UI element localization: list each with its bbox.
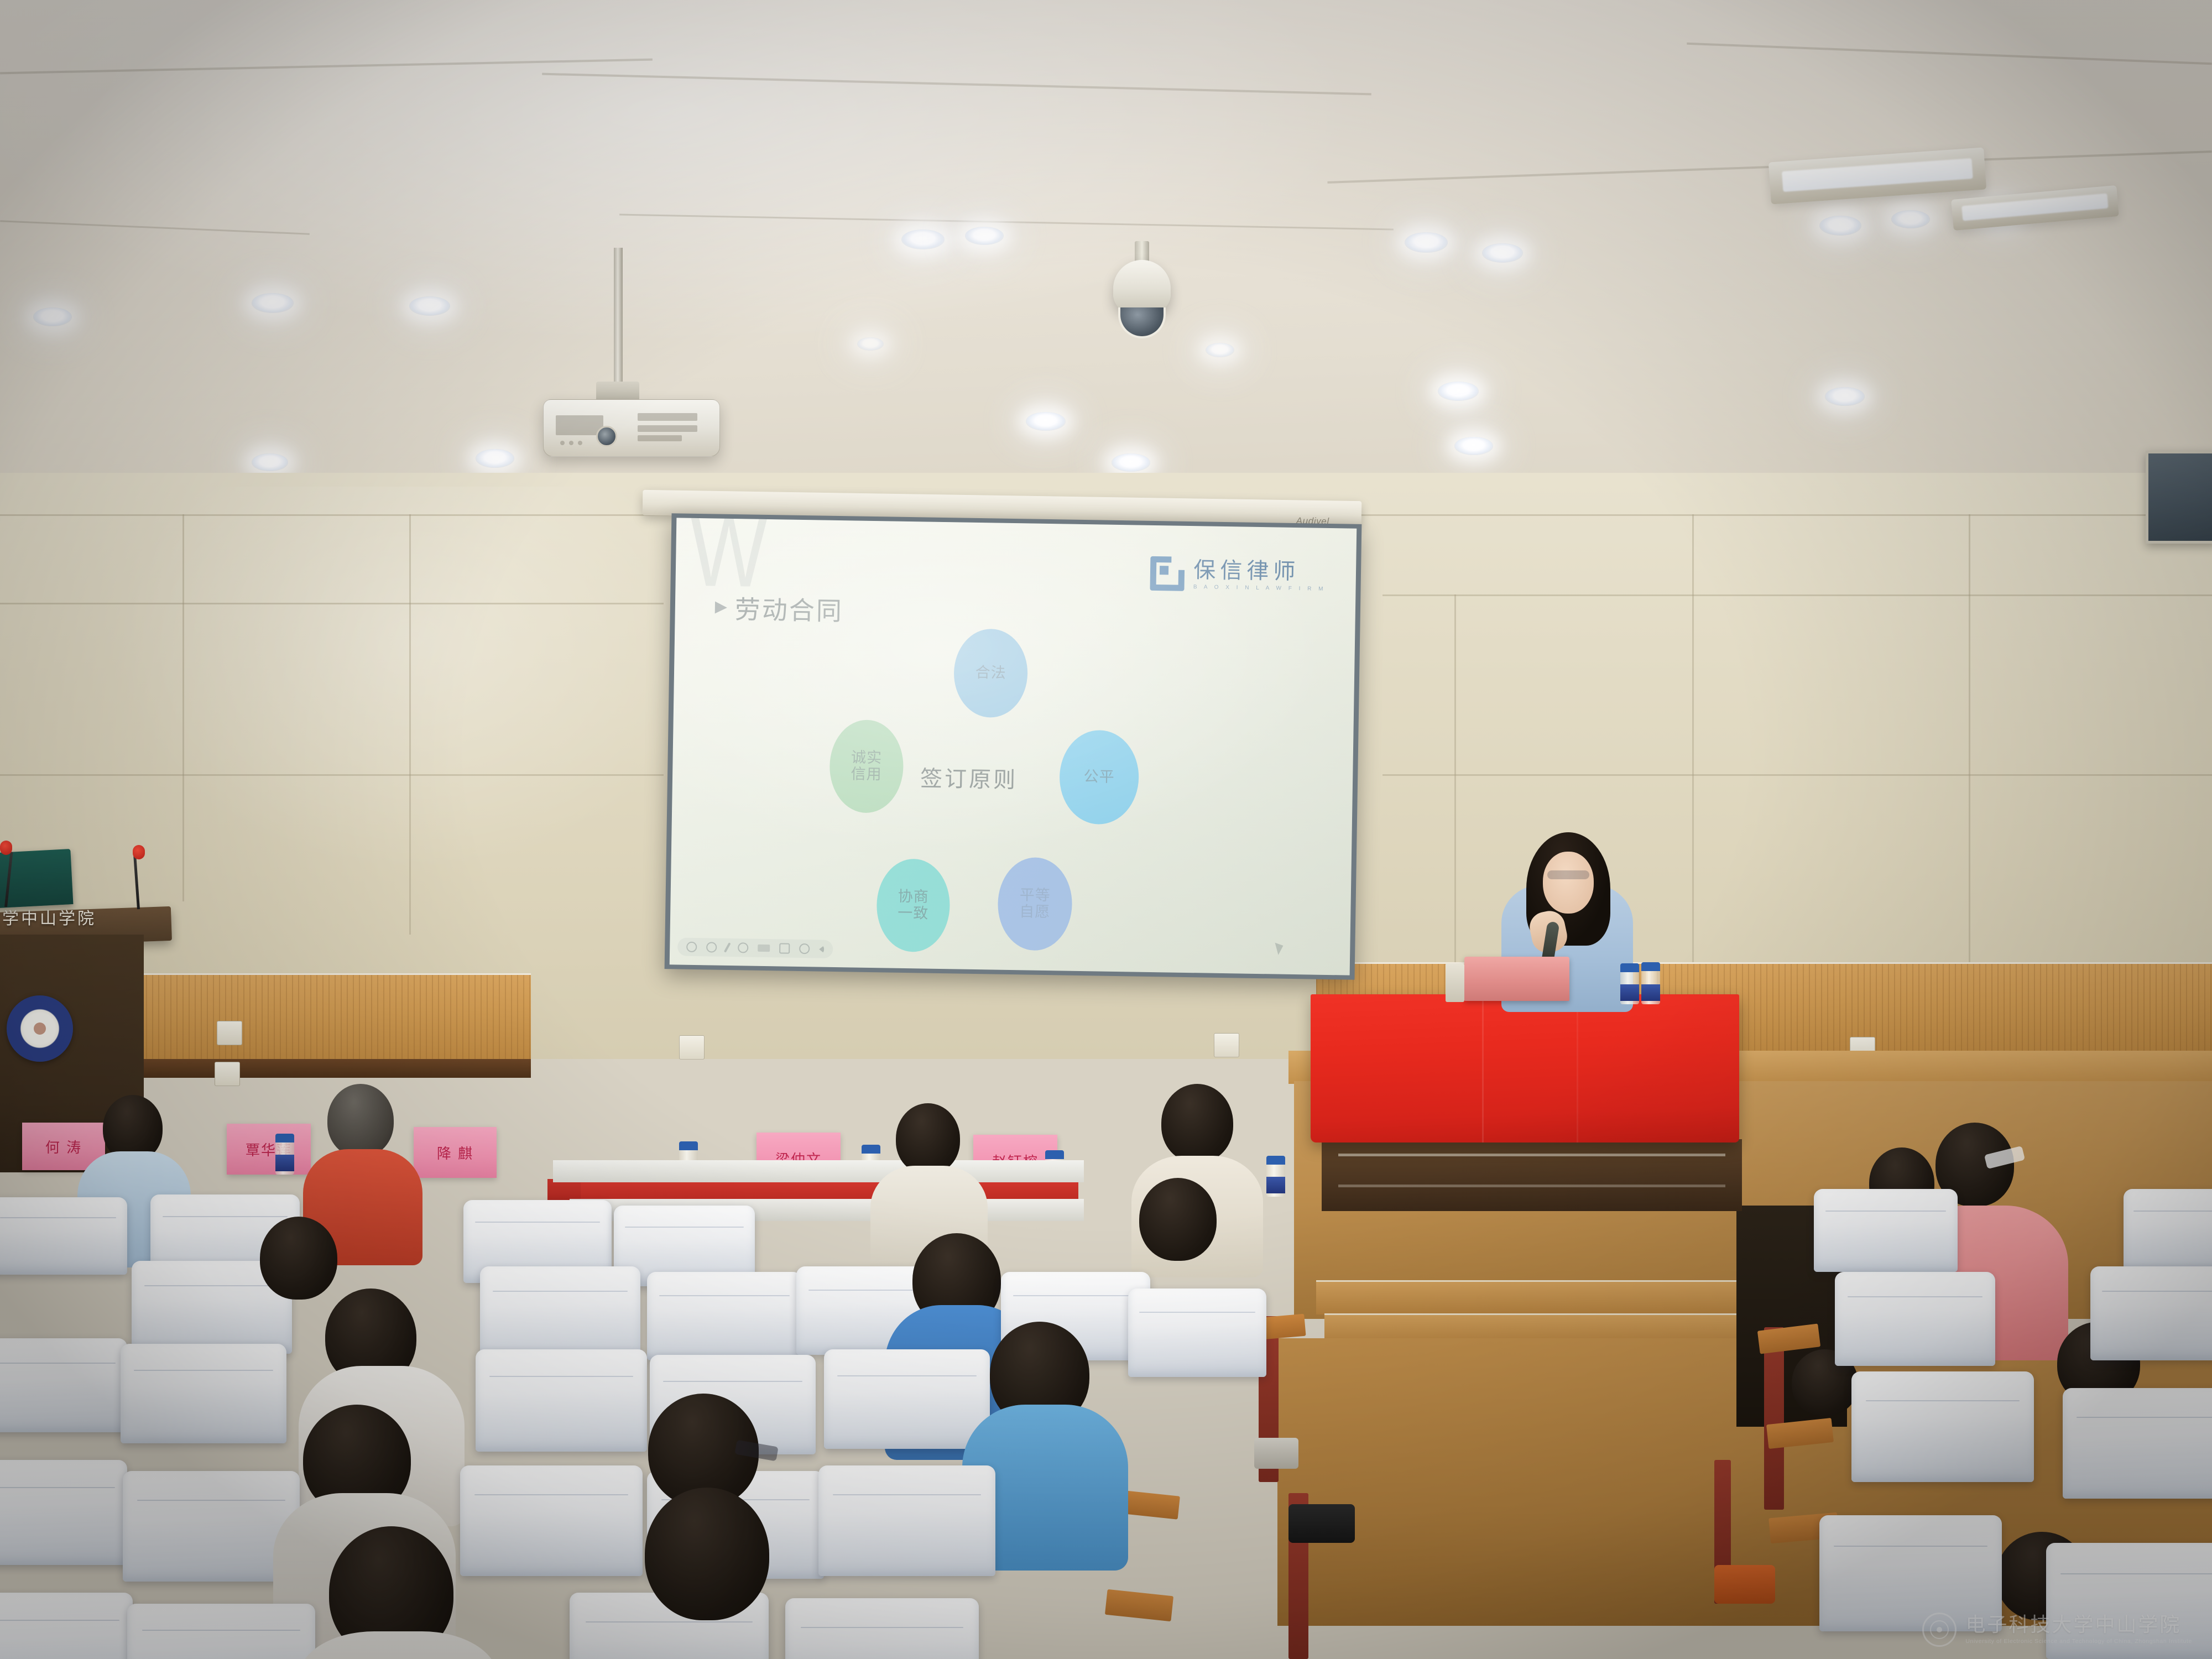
front-table-top (553, 1160, 1084, 1182)
slide-center-label: 签订原则 (920, 760, 1018, 794)
speaker-face (1543, 852, 1594, 914)
principle-label: 平等 自愿 (1019, 887, 1051, 921)
microphone-head-icon (0, 841, 12, 855)
wall-seam (0, 603, 664, 604)
audience-seat[interactable] (824, 1349, 990, 1449)
downlight (1482, 243, 1523, 263)
pen-icon[interactable] (724, 942, 731, 953)
institution-watermark: 电子科技大学中山学院 University of Electronic Scie… (1922, 1613, 2192, 1647)
downlight (1438, 382, 1479, 401)
downlight (1454, 437, 1493, 455)
lecture-hall-photo: Audivel W 劳动合同 保信律师 B A O X I N L A W F … (0, 0, 2212, 1659)
ptz-dome-camera (1113, 260, 1171, 313)
audience-seat[interactable] (1814, 1189, 1958, 1272)
pen-circle-icon[interactable] (686, 942, 697, 952)
name-placard: 降 麒 (414, 1127, 497, 1178)
audience-head (645, 1488, 769, 1620)
projection-screen-surface[interactable]: W 劳动合同 保信律师 B A O X I N L A W F I R M (670, 518, 1357, 975)
wall-seam (1692, 514, 1694, 990)
seat-frame (1764, 1327, 1784, 1510)
audience-seat[interactable] (127, 1604, 315, 1659)
downlight (1891, 210, 1930, 228)
principle-bubble-bottom-left: 协商 一致 (876, 858, 951, 952)
audience-seat[interactable] (1128, 1288, 1266, 1377)
projector-pole (614, 248, 623, 390)
audience-seat[interactable] (0, 1197, 127, 1275)
floor-item (1254, 1438, 1298, 1469)
audience-seat[interactable] (0, 1338, 127, 1432)
audience-seat[interactable] (1835, 1272, 1995, 1366)
audience-head (327, 1084, 394, 1157)
placard-name: 降 麒 (437, 1142, 473, 1163)
speaker-glasses (1547, 870, 1589, 879)
principle-bubble-top: 合法 (953, 628, 1028, 718)
principle-label: 协商 一致 (898, 889, 929, 922)
audience-seat[interactable] (0, 1460, 127, 1565)
water-bottle[interactable] (1641, 962, 1660, 1004)
principle-bubble-left: 诚实 信用 (829, 719, 904, 813)
audience-head (896, 1103, 960, 1174)
university-emblem-icon (7, 995, 73, 1062)
highlighter-circle-icon[interactable] (706, 942, 717, 952)
audience-seat[interactable] (0, 1593, 133, 1659)
water-bottle[interactable] (275, 1134, 294, 1175)
institution-name-cn: 电子科技大学中山学院 (1965, 1615, 2192, 1636)
wall-seam (1383, 774, 2212, 776)
presenter-table-body (1322, 1139, 1742, 1211)
wall-panel-display (2146, 451, 2212, 544)
institution-name-en: University of Electronic Science and Tec… (1965, 1638, 2192, 1645)
audience-seat[interactable] (121, 1344, 286, 1443)
law-firm-name-en: B A O X I N L A W F I R M (1193, 584, 1326, 592)
downlight (901, 229, 945, 249)
wall-seam (1969, 514, 1970, 990)
microphone-head-icon (133, 845, 145, 859)
principle-label: 诚实 信用 (851, 749, 882, 783)
institution-emblem-icon (1922, 1613, 1957, 1647)
projector (543, 399, 720, 457)
audience-seat[interactable] (480, 1266, 640, 1359)
wall-socket[interactable] (217, 1021, 242, 1045)
floor-bag (1714, 1565, 1775, 1604)
ceiling (0, 0, 2212, 498)
audience-seat[interactable] (785, 1598, 979, 1659)
wall-socket[interactable] (679, 1035, 705, 1060)
name-placard: 覃华莲 (227, 1124, 311, 1175)
grid-view-icon[interactable] (779, 943, 790, 953)
downlight (1819, 216, 1861, 236)
wall-seam (182, 514, 184, 901)
slide-thumbnail-icon[interactable] (758, 945, 770, 952)
principle-label: 公平 (1083, 769, 1114, 786)
wall-seam (0, 774, 664, 776)
lamp-glow (1961, 194, 2108, 221)
downlight (33, 307, 72, 326)
slide-bullet-title-row: 劳动合同 (714, 589, 843, 628)
presenter-table-cloth (1311, 994, 1739, 1142)
downlight (857, 337, 884, 351)
wall-socket[interactable] (1214, 1033, 1239, 1057)
options-circle-icon[interactable] (799, 943, 810, 954)
audience-head (1139, 1178, 1217, 1261)
downlight (476, 449, 514, 468)
wall-seam (1454, 594, 1456, 982)
lectern-sign: 大学中山学院 (0, 905, 96, 929)
wall-socket[interactable] (215, 1062, 240, 1086)
downlight (1026, 412, 1066, 431)
audience-seat[interactable] (2063, 1388, 2212, 1499)
wall-seam (409, 514, 411, 935)
principle-bubble-bottom-right: 平等 自愿 (997, 857, 1073, 951)
next-slide-chevron-icon[interactable] (819, 945, 824, 953)
lamp-glow (1782, 158, 1973, 191)
audience-seat[interactable] (2090, 1266, 2212, 1360)
water-bottle[interactable] (1620, 963, 1639, 1004)
audience-head (260, 1217, 337, 1300)
mouse-cursor-icon (1275, 941, 1286, 955)
law-firm-name-cn: 保信律师 (1193, 559, 1326, 584)
audience-seat[interactable] (818, 1465, 995, 1576)
placard-name: 何 涛 (45, 1136, 82, 1157)
law-firm-logo-mark-icon (1150, 556, 1185, 591)
audience-seat[interactable] (1851, 1371, 2034, 1482)
principle-bubble-right: 公平 (1059, 729, 1140, 825)
audience-seat[interactable] (460, 1465, 643, 1576)
slide-title: 劳动合同 (734, 589, 843, 628)
downlight (252, 453, 288, 471)
wall-seam (1383, 594, 2212, 596)
floor-bag (1288, 1504, 1355, 1543)
seat-armrest (1105, 1589, 1173, 1621)
laser-pointer-icon[interactable] (738, 942, 748, 953)
downlight (1405, 232, 1448, 253)
downlight (409, 296, 450, 316)
stage-step (1316, 1280, 1775, 1314)
downlight (1825, 387, 1865, 406)
downlight (965, 227, 1004, 245)
downlight (1112, 453, 1150, 472)
principle-label: 合法 (975, 665, 1006, 682)
audience-head (1161, 1084, 1233, 1162)
audience-seat[interactable] (647, 1272, 802, 1360)
water-bottle[interactable] (1266, 1156, 1285, 1197)
laptop-screen-back (1446, 963, 1464, 1002)
law-firm-logo: 保信律师 B A O X I N L A W F I R M (1150, 556, 1327, 593)
presenter-laptop[interactable] (1464, 957, 1569, 1001)
audience-seat[interactable] (2124, 1189, 2212, 1272)
presenter-toolbar[interactable] (677, 938, 833, 958)
downlight (1206, 343, 1234, 357)
downlight (252, 293, 294, 313)
slide-content: W 劳动合同 保信律师 B A O X I N L A W F I R M (670, 518, 1357, 975)
projection-screen-frame: W 劳动合同 保信律师 B A O X I N L A W F I R M (665, 513, 1362, 980)
projector-lens-icon (596, 426, 617, 447)
bullet-arrow-icon (715, 602, 727, 614)
audience-seat[interactable] (476, 1349, 647, 1452)
